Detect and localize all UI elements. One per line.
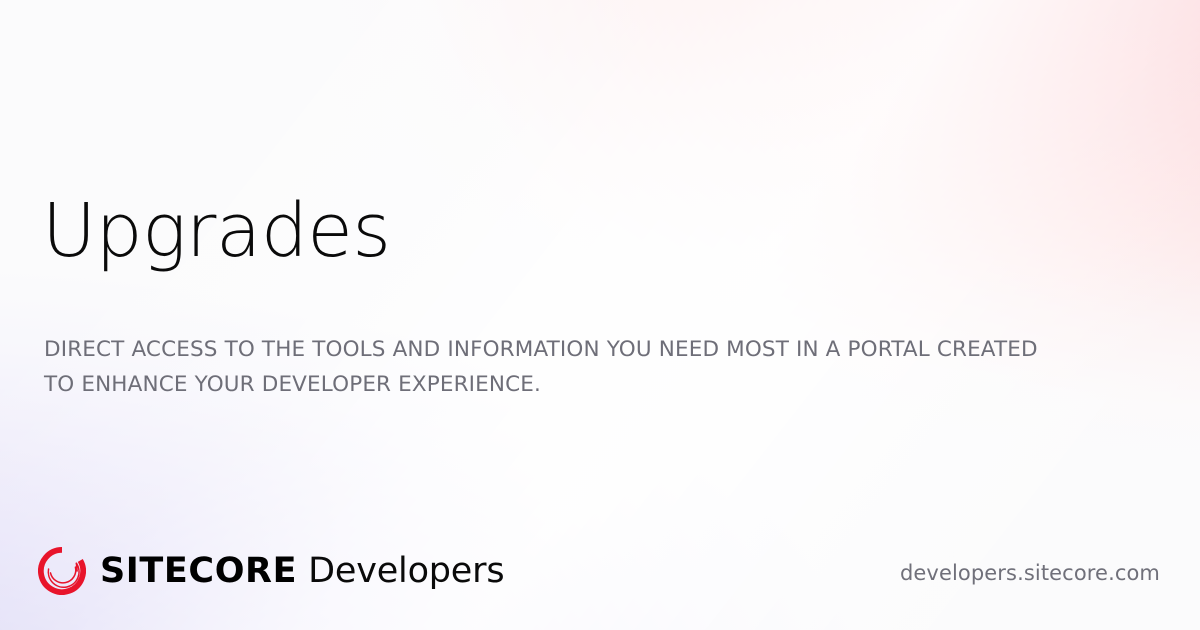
page-title: Upgrades <box>42 194 390 268</box>
card-content: Upgrades Direct access to the tools and … <box>0 0 1200 630</box>
social-share-card: Upgrades Direct access to the tools and … <box>0 0 1200 630</box>
brand-wordmark: SITECORE Developers <box>100 554 504 589</box>
brand-name-primary: SITECORE <box>100 554 297 589</box>
sitecore-logo-icon <box>38 547 86 595</box>
brand-lockup: SITECORE Developers <box>38 547 504 595</box>
brand-name-secondary: Developers <box>308 554 504 589</box>
page-subtitle: Direct access to the tools and informati… <box>44 333 1054 403</box>
site-url: developers.sitecore.com <box>900 563 1160 584</box>
